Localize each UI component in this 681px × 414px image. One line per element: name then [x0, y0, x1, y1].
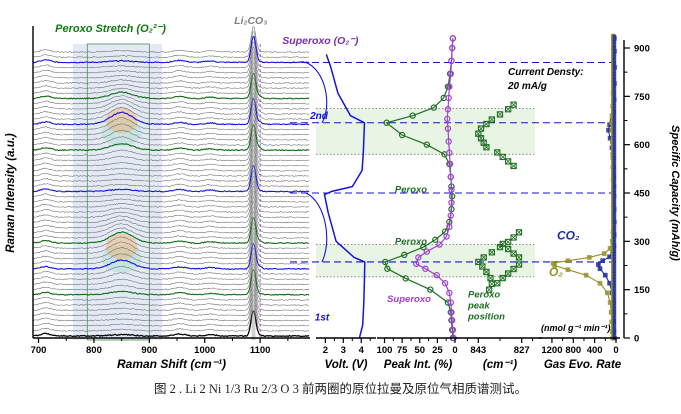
gas-x-tick-label: 400 [587, 345, 603, 356]
peak-int-x-tick-label: 0 [452, 345, 457, 356]
raman-x-tick-label: 700 [31, 345, 47, 356]
peroxo-position-marker [506, 239, 511, 244]
peroxo-position-marker [506, 159, 511, 164]
volt-x-tick-label: 4 [359, 345, 365, 356]
gas-marker-o2 [566, 259, 570, 263]
peroxo-label-lower: Peroxo [395, 237, 427, 248]
voltage-curve [325, 54, 365, 338]
raman-x-tick-label: 800 [86, 345, 102, 356]
capacity-tick-label: 900 [634, 44, 650, 55]
superoxo-label: Superoxo [387, 294, 431, 305]
gas-marker-o2 [587, 255, 591, 259]
figure-root: 70080090010001100Raman Shift (cm⁻¹)Raman… [0, 0, 681, 414]
peak-int-x-axis-label: Peak Int. (%) [384, 359, 453, 371]
raman-x-axis-label: Raman Shift (cm⁻¹) [117, 357, 226, 371]
capacity-tick-label: 150 [634, 285, 650, 296]
gas-x-tick-label: 800 [565, 345, 581, 356]
gas-x-tick-label: 1200 [541, 345, 562, 356]
current-density-value: 20 mA/g [507, 81, 547, 92]
li2co3-streak [251, 44, 255, 340]
peroxo-intensity-glow [106, 234, 138, 260]
peak-int-x-tick-label: 100 [377, 345, 393, 356]
peak-pos-x-tick-label: 843 [470, 345, 486, 356]
peroxo-stretch-annotation: Peroxo Stretch (O₂²⁻) [55, 23, 166, 35]
capacity-tick-label: 750 [634, 92, 650, 103]
gas-marker-o2 [584, 273, 588, 277]
capacity-tick-label: 600 [634, 140, 650, 151]
current-density-label: Current Densty: [508, 67, 584, 78]
volt-x-tick-label: 2 [323, 345, 328, 356]
peak-int-x-tick-label: 50 [414, 345, 425, 356]
volt-x-axis-label: Volt. (V) [324, 359, 367, 371]
gas-marker-o2 [598, 281, 602, 285]
peroxo-position-marker [511, 102, 516, 107]
li2co3-annotation: Li₂CO₃ [234, 15, 267, 27]
figure-caption: 图 2 . Li 2 Ni 1/3 Ru 2/3 O 3 前两圈的原位拉曼及原位… [0, 378, 681, 397]
o2-label: O₂ [549, 265, 563, 279]
raman-x-tick-label: 900 [141, 345, 157, 356]
peak-int-x-tick-label: 25 [432, 345, 443, 356]
in-situ-raman-figure: 70080090010001100Raman Shift (cm⁻¹)Raman… [0, 0, 681, 378]
capacity-axis-label: Specific Capacity (mAh/g) [669, 125, 681, 261]
peroxo-position-marker [495, 281, 500, 286]
peak-int-x-tick-label: 75 [397, 345, 408, 356]
co2-label: CO₂ [557, 229, 580, 243]
capacity-tick-label: 450 [634, 189, 650, 200]
gas-x-axis-label: Gas Evo. Rate [544, 359, 622, 371]
peroxo-peak-position-label: peak [467, 301, 490, 312]
gas-marker-co2 [608, 281, 612, 285]
raman-y-axis-label: Raman Intensity (a.u.) [5, 133, 17, 253]
peroxo-position-marker [489, 281, 494, 286]
peroxo-position-marker [516, 230, 521, 235]
gas-marker-co2 [608, 255, 612, 259]
raman-x-tick-label: 1100 [250, 345, 271, 356]
gas-marker-o2 [602, 252, 606, 256]
peroxo-peak-position-label: Peroxo [468, 290, 500, 301]
gas-line-o2 [553, 37, 613, 338]
gas-x-tick-label: 0 [613, 345, 618, 356]
gas-marker-co2 [603, 273, 607, 277]
peroxo-label-upper: Peroxo [395, 184, 427, 195]
peak-pos-x-tick-label: 827 [514, 345, 530, 356]
gas-marker-co2 [601, 259, 605, 263]
peroxo-position-marker [511, 235, 516, 240]
peroxo-position-marker [500, 154, 505, 159]
superoxo-annotation: Superoxo (O₂⁻) [282, 35, 359, 47]
peak-pos-x-axis-label: (cm⁻¹) [483, 359, 517, 371]
peroxo-intensity-glow [106, 107, 138, 133]
gas-marker-co2 [613, 35, 617, 39]
gas-units-label: (nmol g⁻¹ min⁻¹) [541, 323, 611, 333]
capacity-tick-label: 300 [634, 237, 650, 248]
capacity-tick-label: 0 [634, 334, 639, 345]
gas-marker-o2 [605, 291, 609, 295]
volt-x-tick-label: 3 [341, 345, 346, 356]
gas-marker-co2 [596, 263, 600, 267]
gas-marker-co2 [598, 267, 602, 271]
raman-x-tick-label: 1000 [194, 345, 215, 356]
peroxo-position-marker [511, 163, 516, 168]
gas-marker-o2 [566, 268, 570, 272]
cycle-2nd-label: 2nd [309, 111, 329, 122]
cycle-1st-label: 1st [315, 312, 330, 323]
peroxo-peak-position-label: position [467, 312, 505, 323]
